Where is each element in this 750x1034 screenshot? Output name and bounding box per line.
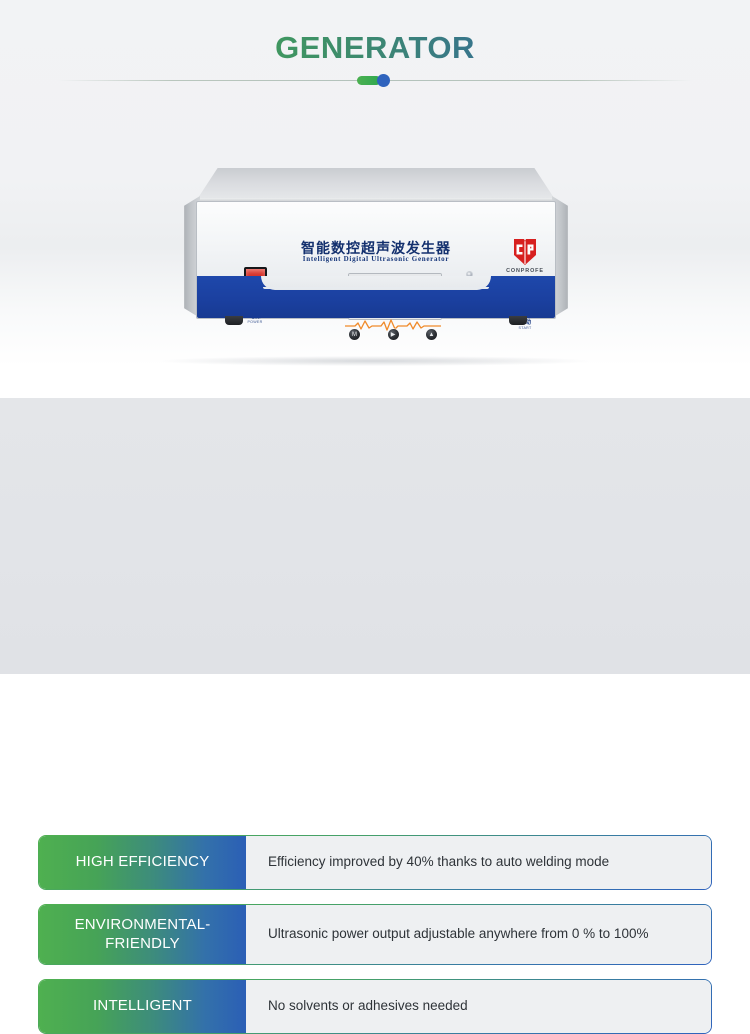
feature-description: Ultrasonic power output adjustable anywh… (246, 905, 711, 964)
device-shadow (160, 356, 590, 366)
brand-name: CONPROFE (497, 268, 553, 274)
device-foot-left (225, 316, 243, 325)
hero-section: GENERATOR 智能数控超声波发生器 Intelligent Digital… (0, 0, 750, 398)
generator-product-image: 智能数控超声波发生器 Intelligent Digital Ultrasoni… (178, 168, 574, 360)
device-base-band (197, 276, 555, 318)
conprofe-shield-icon (512, 238, 538, 266)
features-section: HIGH EFFICIENCY Efficiency improved by 4… (0, 398, 750, 674)
feature-card: ENVIRONMENTAL-FRIENDLY Ultrasonic power … (38, 904, 712, 965)
feature-description: No solvents or adhesives needed (246, 980, 711, 1033)
feature-label: ENVIRONMENTAL-FRIENDLY (39, 905, 246, 964)
page-title: GENERATOR (0, 30, 750, 66)
brand-logo-group: CONPROFE (497, 238, 553, 274)
play-button-icon[interactable]: ▶ (388, 329, 399, 340)
feature-label: INTELLIGENT (39, 980, 246, 1033)
divider-dot-icon (377, 74, 390, 87)
feature-card: INTELLIGENT No solvents or adhesives nee… (38, 979, 712, 1034)
device-foot-right (509, 316, 527, 325)
feature-label: HIGH EFFICIENCY (39, 836, 246, 889)
device-top-panel (196, 168, 556, 201)
feature-card: HIGH EFFICIENCY Efficiency improved by 4… (38, 835, 712, 890)
control-button-row: M ▶ ▲ (349, 329, 437, 340)
menu-button-icon[interactable]: M (349, 329, 360, 340)
device-front-panel: 智能数控超声波发生器 Intelligent Digital Ultrasoni… (196, 201, 556, 319)
device-base-stripe (263, 287, 489, 289)
feature-description: Efficiency improved by 40% thanks to aut… (246, 836, 711, 889)
start-label-english: START (499, 326, 551, 330)
up-button-icon[interactable]: ▲ (426, 329, 437, 340)
